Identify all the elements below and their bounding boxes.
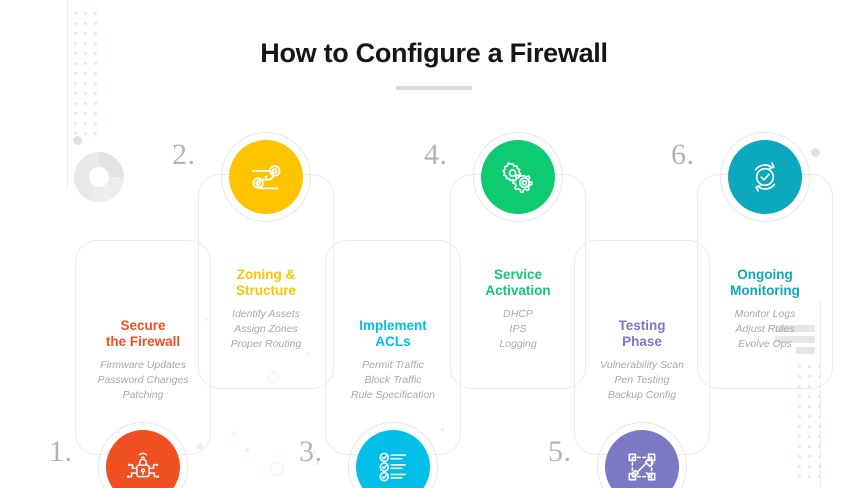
gray-dot-left [73, 136, 82, 145]
step-sub-item: Monitor Logs [700, 307, 830, 322]
step-number-4: 4. [424, 138, 448, 172]
step-sub-item: Rule Specification [328, 388, 458, 403]
step-number-3: 3. [299, 435, 323, 469]
step-sub-item: DHCP [453, 307, 583, 322]
step-text-2: Zoning &StructureIdentify AssetsAssign Z… [201, 267, 331, 353]
step-sublist-6: Monitor LogsAdjust RulesEvolve Ops [700, 307, 830, 353]
step-heading-line: Implement [328, 318, 458, 334]
step-heading-6: OngoingMonitoring [700, 267, 830, 300]
step-heading-3: ImplementACLs [328, 318, 458, 351]
step-heading-line: Secure [78, 318, 208, 334]
step-sub-item: Assign Zones [201, 322, 331, 337]
step-heading-line: ACLs [328, 334, 458, 350]
step-sub-item: Password Changes [78, 373, 208, 388]
step-sub-item: Adjust Rules [700, 322, 830, 337]
page-title: How to Configure a Firewall [0, 38, 868, 69]
step-sublist-2: Identify AssetsAssign ZonesProper Routin… [201, 307, 331, 353]
step-sub-item: IPS [453, 322, 583, 337]
plus-accent-2: + [230, 427, 238, 440]
step-sub-item: Logging [453, 337, 583, 352]
step-sub-item: Identify Assets [201, 307, 331, 322]
step-number-2: 2. [172, 138, 196, 172]
gray-dot-right [811, 148, 820, 157]
step-sub-item: Vulnerability Scan [577, 358, 707, 373]
step-icon-bubble-2[interactable] [221, 132, 311, 222]
step-icon-bubble-5[interactable] [597, 422, 687, 488]
step-heading-line: Testing [577, 318, 707, 334]
step-icon-bubble-3[interactable] [348, 422, 438, 488]
step-heading-line: Monitoring [700, 283, 830, 299]
step-heading-4: ServiceActivation [453, 267, 583, 300]
micro-dot-2 [245, 448, 249, 452]
step-icon-bubble-6[interactable] [720, 132, 810, 222]
network-zones-icon [229, 140, 303, 214]
gears-icon [481, 140, 555, 214]
step-sub-item: Firmware Updates [78, 358, 208, 373]
step-sublist-4: DHCPIPSLogging [453, 307, 583, 353]
step-heading-1: Securethe Firewall [78, 318, 208, 351]
step-text-1: Securethe FirewallFirmware UpdatesPasswo… [78, 318, 208, 404]
step-text-3: ImplementACLsPermit TrafficBlock Traffic… [328, 318, 458, 404]
step-heading-line: Service [453, 267, 583, 283]
step-heading-line: Structure [201, 283, 331, 299]
step-text-4: ServiceActivationDHCPIPSLogging [453, 267, 583, 353]
donut-decoration [74, 152, 124, 202]
step-sublist-5: Vulnerability ScanPen TestingBackup Conf… [577, 358, 707, 404]
step-heading-line: the Firewall [78, 334, 208, 350]
step-number-1: 1. [49, 435, 73, 469]
step-text-5: TestingPhaseVulnerability ScanPen Testin… [577, 318, 707, 404]
step-heading-line: Phase [577, 334, 707, 350]
step-heading-line: Ongoing [700, 267, 830, 283]
step-sub-item: Patching [78, 388, 208, 403]
step-heading-line: Zoning & [201, 267, 331, 283]
step-number-5: 5. [548, 435, 572, 469]
step-sub-item: Proper Routing [201, 337, 331, 352]
step-text-6: OngoingMonitoringMonitor LogsAdjust Rule… [700, 267, 830, 353]
ring-accent-1 [270, 462, 284, 476]
refresh-check-icon [728, 140, 802, 214]
step-sublist-1: Firmware UpdatesPassword ChangesPatching [78, 358, 208, 404]
step-number-6: 6. [671, 138, 695, 172]
step-heading-line: Activation [453, 283, 583, 299]
step-heading-5: TestingPhase [577, 318, 707, 351]
title-underline-rule [396, 86, 472, 90]
step-sub-item: Backup Config [577, 388, 707, 403]
step-icon-bubble-1[interactable] [98, 422, 188, 488]
step-icon-bubble-4[interactable] [473, 132, 563, 222]
infographic-canvas: How to Configure a Firewall + + + 1. [0, 0, 868, 488]
step-sub-item: Block Traffic [328, 373, 458, 388]
step-sublist-3: Permit TrafficBlock TrafficRule Specific… [328, 358, 458, 404]
left-divider-line [67, 0, 68, 190]
step-sub-item: Pen Testing [577, 373, 707, 388]
step-sub-item: Permit Traffic [328, 358, 458, 373]
step-sub-item: Evolve Ops [700, 337, 830, 352]
step-heading-2: Zoning &Structure [201, 267, 331, 300]
